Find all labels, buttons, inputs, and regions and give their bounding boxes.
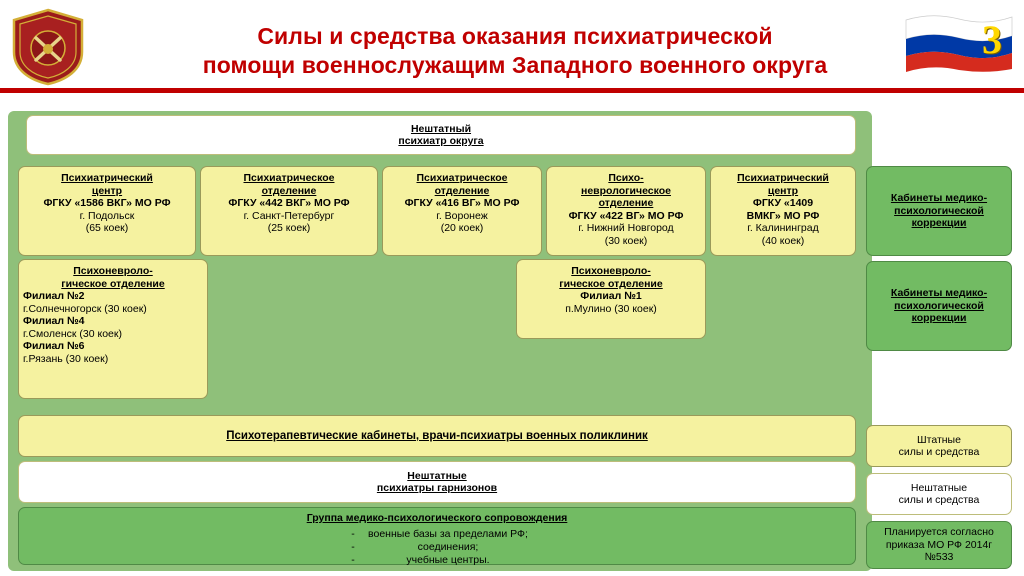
unit-2-beds: (25 коек): [205, 222, 373, 235]
node-nonstaff-garrison-psychiatrists: Нештатные психиатры гарнизонов: [18, 461, 856, 503]
slide-header: Силы и средства оказания психиатрической…: [0, 0, 1024, 92]
unit-4-name-line3: отделение: [599, 197, 654, 209]
branch-4-label: Филиал №4: [23, 315, 85, 327]
support-bullet-2: -: [342, 541, 364, 554]
legend-3-line3: №533: [884, 551, 994, 564]
node-branch-right: Психоневроло- гическое отделение Филиал …: [516, 259, 706, 339]
page-title-line2: помощи военнослужащим Западного военного…: [150, 51, 880, 80]
node-medpsych-correction-2: Кабинеты медико- психологической коррекц…: [866, 261, 1012, 351]
branches-left-title-line2: гическое отделение: [61, 278, 164, 290]
page-title: Силы и средства оказания психиатрической…: [150, 22, 880, 80]
support-item-2: соединения;: [364, 541, 532, 554]
branch-right-title-line1: Психоневроло-: [571, 265, 650, 277]
unit-5-beds: (40 коек): [715, 235, 851, 248]
unit-5-org-line1: ФГКУ «1409: [753, 197, 813, 209]
legend-2-line2: силы и средства: [899, 494, 980, 507]
unit-4-name-line1: Психо-: [608, 172, 643, 184]
legend-1-line1: Штатные: [899, 434, 980, 447]
unit-5-name-line1: Психиатрический: [737, 172, 829, 184]
medpsych-1-line3: коррекции: [912, 217, 967, 229]
branch-6-label: Филиал №6: [23, 340, 85, 352]
legend-planned-order: Планируется согласно приказа МО РФ 2014г…: [866, 521, 1012, 569]
medpsych-2-line3: коррекции: [912, 312, 967, 324]
branch-2-label: Филиал №2: [23, 290, 85, 302]
node-branches-left: Психоневроло- гическое отделение Филиал …: [18, 259, 208, 399]
branch-6-place: г.Рязань (30 коек): [23, 353, 203, 366]
page-title-line1: Силы и средства оказания психиатрической: [150, 22, 880, 51]
unit-1-city: г. Подольск: [23, 210, 191, 223]
legend-staff-forces: Штатные силы и средства: [866, 425, 1012, 467]
unit-3-city: г. Воронеж: [387, 210, 537, 223]
branch-1-place: п.Мулино (30 коек): [521, 303, 701, 316]
support-bullet-1: -: [342, 528, 364, 541]
node-medpsych-correction-1: Кабинеты медико- психологической коррекц…: [866, 166, 1012, 256]
nonstaff-garrison-line1: Нештатные: [407, 470, 466, 482]
legend-2-line1: Нештатные: [899, 482, 980, 495]
node-nonstaff-line1: Нештатный: [411, 123, 471, 135]
psychotherapy-cabinets-label: Психотерапевтические кабинеты, врачи-пси…: [226, 430, 648, 442]
medpsych-2-line2: психологической: [894, 300, 984, 312]
unit-5-city: г. Калининград: [715, 222, 851, 235]
node-unit-4: Психо- неврологическое отделение ФГКУ «4…: [546, 166, 706, 256]
node-medpsych-support-group: Группа медико-психологического сопровожд…: [18, 507, 856, 565]
military-medical-emblem: [10, 8, 86, 86]
support-item-3: учебные центры.: [364, 554, 532, 567]
unit-4-beds: (30 коек): [551, 235, 701, 248]
branch-2-place: г.Солнечногорск (30 коек): [23, 303, 203, 316]
nonstaff-garrison-line2: психиатры гарнизонов: [377, 482, 497, 494]
node-unit-3: Психиатрическое отделение ФГКУ «416 ВГ» …: [382, 166, 542, 256]
node-nonstaff-line2: психиатр округа: [398, 135, 483, 147]
branch-right-title-line2: гическое отделение: [559, 278, 662, 290]
unit-1-beds: (65 коек): [23, 222, 191, 235]
legend-3-line1: Планируется согласно: [884, 526, 994, 539]
branch-1-label: Филиал №1: [580, 290, 642, 302]
unit-5-org-line2: ВМКГ» МО РФ: [747, 210, 820, 222]
node-nonstaff-district-psychiatrist: Нештатный психиатр округа: [26, 115, 856, 155]
slide-number: 3: [982, 16, 1002, 63]
unit-3-org: ФГКУ «416 ВГ» МО РФ: [405, 197, 520, 209]
support-item-1: военные базы за пределами РФ;: [364, 528, 532, 541]
unit-3-name-line1: Психиатрическое: [417, 172, 508, 184]
unit-4-city: г. Нижний Новгород: [551, 222, 701, 235]
unit-4-name-line2: неврологическое: [581, 185, 671, 197]
unit-2-org: ФГКУ «442 ВКГ» МО РФ: [228, 197, 349, 209]
support-group-title: Группа медико-психологического сопровожд…: [307, 512, 568, 524]
node-psychotherapy-cabinets: Психотерапевтические кабинеты, врачи-пси…: [18, 415, 856, 457]
unit-1-org: ФГКУ «1586 ВКГ» МО РФ: [43, 197, 170, 209]
unit-3-beds: (20 коек): [387, 222, 537, 235]
medpsych-1-line1: Кабинеты медико-: [891, 192, 987, 204]
unit-3-name-line2: отделение: [435, 185, 490, 197]
unit-1-name-line2: центр: [92, 185, 122, 197]
support-bullet-3: -: [342, 554, 364, 567]
node-unit-5: Психиатрический центр ФГКУ «1409 ВМКГ» М…: [710, 166, 856, 256]
unit-2-city: г. Санкт-Петербург: [205, 210, 373, 223]
legend-3-line2: приказа МО РФ 2014г: [884, 539, 994, 552]
medpsych-2-line1: Кабинеты медико-: [891, 287, 987, 299]
legend-1-line2: силы и средства: [899, 446, 980, 459]
unit-5-name-line2: центр: [768, 185, 798, 197]
node-unit-1: Психиатрический центр ФГКУ «1586 ВКГ» МО…: [18, 166, 196, 256]
branch-4-place: г.Смоленск (30 коек): [23, 328, 203, 341]
branches-left-title-line1: Психоневроло-: [73, 265, 152, 277]
unit-2-name-line2: отделение: [262, 185, 317, 197]
medpsych-1-line2: психологической: [894, 205, 984, 217]
node-unit-2: Психиатрическое отделение ФГКУ «442 ВКГ»…: [200, 166, 378, 256]
slide-body: Нештатный психиатр округа Психиатрически…: [0, 93, 1024, 576]
unit-1-name-line1: Психиатрический: [61, 172, 153, 184]
legend-nonstaff-forces: Нештатные силы и средства: [866, 473, 1012, 515]
unit-4-org: ФГКУ «422 ВГ» МО РФ: [569, 210, 684, 222]
unit-2-name-line1: Психиатрическое: [244, 172, 335, 184]
